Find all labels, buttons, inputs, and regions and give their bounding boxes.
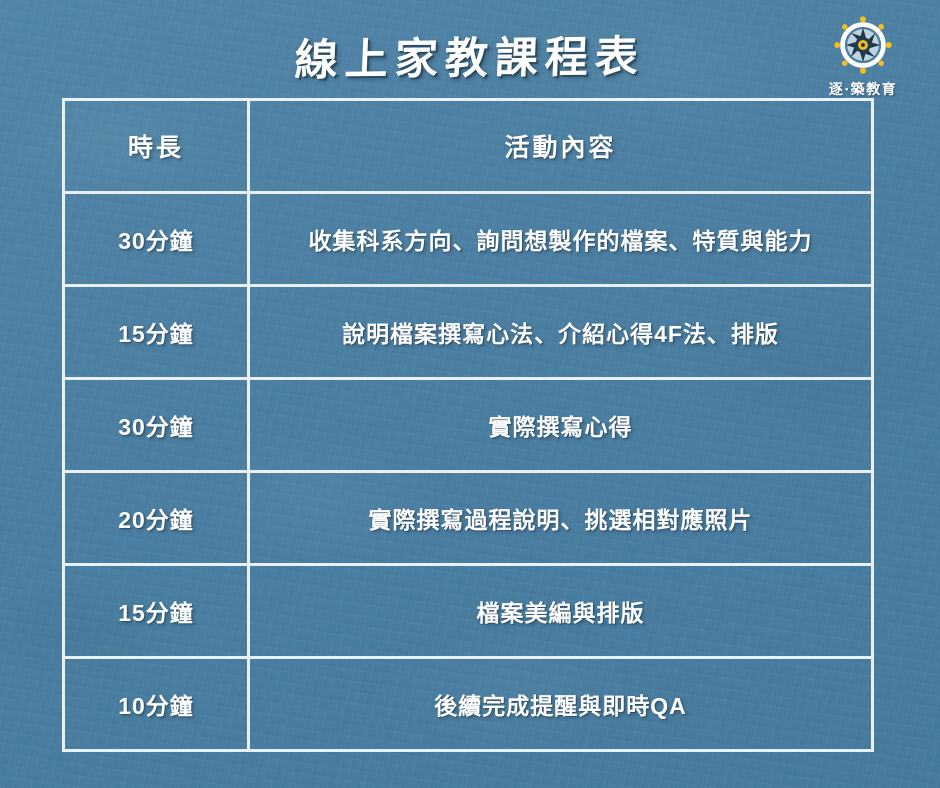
table-row: 30分鐘 實際撰寫心得 — [65, 380, 871, 473]
table-row: 15分鐘 說明檔案撰寫心法、介紹心得4F法、排版 — [65, 287, 871, 380]
table-row: 20分鐘 實際撰寫過程說明、挑選相對應照片 — [65, 473, 871, 566]
cell-activity: 實際撰寫過程說明、挑選相對應照片 — [250, 473, 871, 563]
cell-duration: 30分鐘 — [65, 380, 250, 470]
cell-activity: 後續完成提醒與即時QA — [250, 659, 871, 749]
table-row: 10分鐘 後續完成提醒與即時QA — [65, 659, 871, 749]
cell-activity: 檔案美編與排版 — [250, 566, 871, 656]
table-header-row: 時長 活動內容 — [65, 101, 871, 194]
page-title: 線上家教課程表 — [0, 19, 940, 91]
cell-activity: 實際撰寫心得 — [250, 380, 871, 470]
schedule-table: 時長 活動內容 30分鐘 收集科系方向、詢問想製作的檔案、特質與能力 15分鐘 … — [62, 98, 874, 752]
cell-duration: 30分鐘 — [65, 194, 250, 284]
cell-duration: 15分鐘 — [65, 287, 250, 377]
brand-logo: 逐·築教育 — [808, 12, 918, 99]
column-header-activity: 活動內容 — [250, 101, 871, 191]
brand-name: 逐·築教育 — [829, 79, 897, 99]
poster-canvas: 線上家教課程表 逐·築教 — [0, 0, 940, 788]
cell-activity: 收集科系方向、詢問想製作的檔案、特質與能力 — [250, 194, 871, 284]
table-row: 30分鐘 收集科系方向、詢問想製作的檔案、特質與能力 — [65, 194, 871, 287]
ship-wheel-compass-icon — [830, 12, 896, 78]
cell-duration: 10分鐘 — [65, 659, 250, 749]
table-row: 15分鐘 檔案美編與排版 — [65, 566, 871, 659]
cell-duration: 20分鐘 — [65, 473, 250, 563]
cell-duration: 15分鐘 — [65, 566, 250, 656]
cell-activity: 說明檔案撰寫心法、介紹心得4F法、排版 — [250, 287, 871, 377]
column-header-duration: 時長 — [65, 101, 250, 191]
